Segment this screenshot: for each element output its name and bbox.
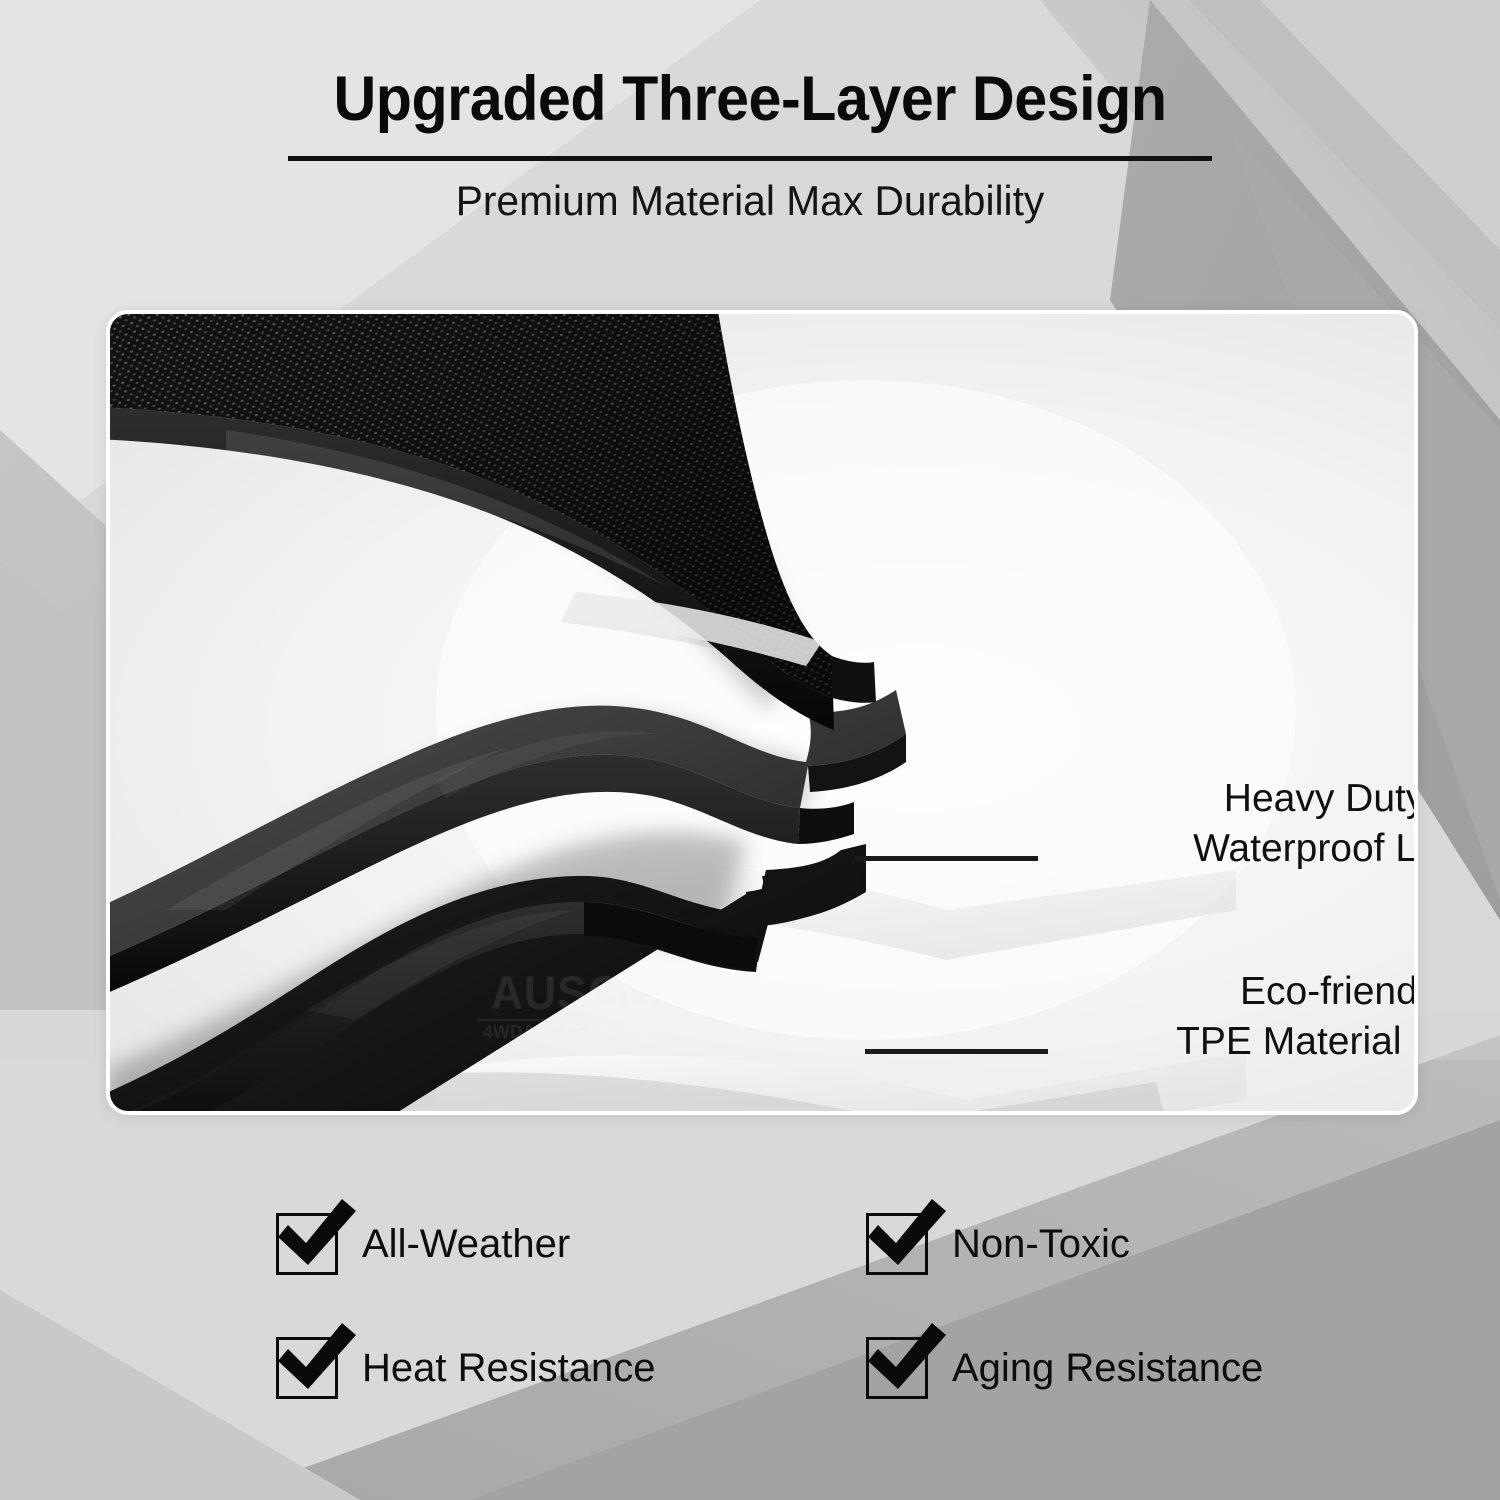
infographic-root: Upgraded Three-Layer Design Premium Mate…	[0, 0, 1500, 1500]
leader-line-1	[855, 856, 1038, 861]
callout-label-1: Heavy Duty & Waterproof Layer	[1058, 774, 1418, 874]
feature-label-heat-resistance: Heat Resistance	[362, 1348, 655, 1388]
feature-item-heat-resistance: Heat Resistance	[276, 1337, 655, 1399]
checkbox-aging-resistance[interactable]	[866, 1337, 928, 1399]
feature-item-all-weather: All-Weather	[276, 1213, 570, 1275]
feature-item-non-toxic: Non-Toxic	[866, 1213, 1130, 1275]
checkbox-checked-icon	[272, 1321, 358, 1403]
feature-item-aging-resistance: Aging Resistance	[866, 1337, 1263, 1399]
title-divider	[288, 156, 1212, 161]
feature-label-all-weather: All-Weather	[362, 1224, 570, 1264]
checkbox-checked-icon	[862, 1321, 948, 1403]
header: Upgraded Three-Layer Design Premium Mate…	[0, 0, 1500, 250]
checkbox-checked-icon	[862, 1197, 948, 1279]
callout-label-2: Eco-friendly TPE Material Layer	[1058, 967, 1418, 1067]
checkbox-non-toxic[interactable]	[866, 1213, 928, 1275]
checkbox-heat-resistance[interactable]	[276, 1337, 338, 1399]
product-layers-panel: AUSGO 4WD&ACCESSORIES Heavy Duty & Water…	[106, 310, 1418, 1115]
feature-label-aging-resistance: Aging Resistance	[952, 1348, 1263, 1388]
page-subtitle: Premium Material Max Durability	[23, 176, 1478, 226]
feature-label-non-toxic: Non-Toxic	[952, 1224, 1130, 1264]
leader-line-2	[865, 1049, 1048, 1054]
checkbox-checked-icon	[272, 1197, 358, 1279]
feature-checklist: All-Weather Non-Toxic Heat Resistance	[0, 1195, 1500, 1455]
page-title: Upgraded Three-Layer Design	[45, 68, 1455, 131]
checkbox-all-weather[interactable]	[276, 1213, 338, 1275]
